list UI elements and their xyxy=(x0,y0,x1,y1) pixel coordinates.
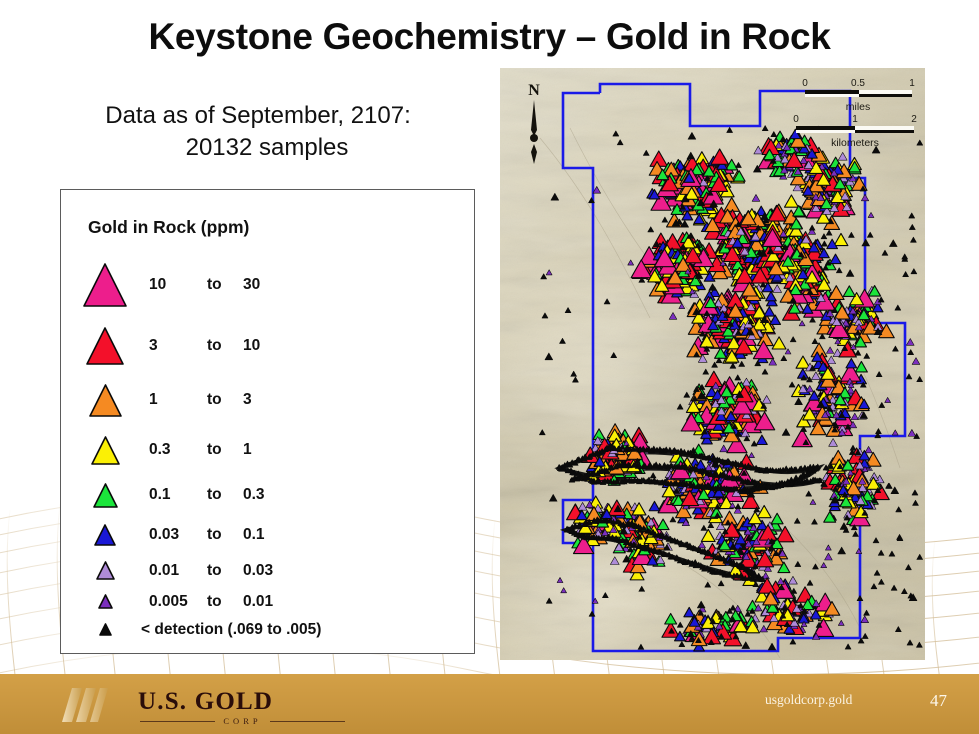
legend-row: 1to3 xyxy=(61,374,474,426)
legend-range-label: 10to30 xyxy=(149,276,260,294)
legend-range-label: 0.1to0.3 xyxy=(149,486,265,504)
legend-range-to-word: to xyxy=(207,391,243,409)
legend-row: 3to10 xyxy=(61,318,474,374)
legend-detection-label: < detection (.069 to .005) xyxy=(141,621,321,639)
legend-range-label: 1to3 xyxy=(149,391,252,409)
legend-range-hi: 10 xyxy=(243,337,260,355)
legend-range-hi: 0.3 xyxy=(243,486,265,504)
legend-range-label: 0.3to1 xyxy=(149,441,252,459)
legend-triangle-icon xyxy=(61,592,149,611)
subtitle-line-2: 20132 samples xyxy=(66,132,468,164)
legend-range-hi: 30 xyxy=(243,276,260,294)
legend-row: 0.03to0.1 xyxy=(61,516,474,554)
legend-range-hi: 0.1 xyxy=(243,526,265,544)
logo-wordmark: U.S. GOLD xyxy=(138,688,273,716)
legend-range-hi: 3 xyxy=(243,391,252,409)
legend-panel: Gold in Rock (ppm) 10to303to101to30.3to1… xyxy=(60,189,475,654)
legend-range-from: 0.1 xyxy=(149,486,207,504)
legend-range-label: 3to10 xyxy=(149,337,260,355)
legend-triangle-icon xyxy=(61,481,149,510)
legend-row: < detection (.069 to .005) xyxy=(61,616,474,643)
svg-text:kilometers: kilometers xyxy=(831,137,879,149)
legend-range-to-word: to xyxy=(207,526,243,544)
legend-range-to-word: to xyxy=(207,486,243,504)
legend-triangle-icon xyxy=(61,434,149,467)
legend-row: 0.01to0.03 xyxy=(61,554,474,587)
legend-range-to-word: to xyxy=(207,441,243,459)
legend-row: 0.005to0.01 xyxy=(61,587,474,616)
svg-text:miles: miles xyxy=(846,101,871,113)
logo-bars-icon xyxy=(52,682,132,728)
logo-rule-left xyxy=(140,721,215,722)
legend-triangle-icon xyxy=(61,621,149,638)
legend-range-from: 0.005 xyxy=(149,593,207,611)
svg-text:N: N xyxy=(528,82,540,99)
logo-corp-text: CORP xyxy=(215,716,269,726)
legend-range-label: < detection (.069 to .005) xyxy=(141,621,321,639)
legend-range-from: 0.3 xyxy=(149,441,207,459)
footer-bar: U.S. GOLD CORP usgoldcorp.gold 47 xyxy=(0,674,979,734)
subtitle-line-1: Data as of September, 2107: xyxy=(48,100,468,132)
map-image[interactable]: N 0 0.5 1 miles 0 1 2 xyxy=(500,68,925,660)
legend-range-to-word: to xyxy=(207,337,243,355)
svg-text:0: 0 xyxy=(793,114,799,125)
legend-rows: 10to303to101to30.3to10.1to0.30.03to0.10.… xyxy=(61,252,474,643)
page-title: Keystone Geochemistry – Gold in Rock xyxy=(0,16,979,58)
svg-text:1: 1 xyxy=(852,114,858,125)
company-logo: U.S. GOLD CORP xyxy=(52,682,342,728)
legend-range-from: 0.01 xyxy=(149,562,207,580)
svg-text:1: 1 xyxy=(909,78,915,89)
legend-range-from: 10 xyxy=(149,276,207,294)
legend-range-from: 3 xyxy=(149,337,207,355)
legend-range-hi: 0.03 xyxy=(243,562,273,580)
legend-range-hi: 0.01 xyxy=(243,593,273,611)
logo-subtitle: CORP xyxy=(140,716,345,726)
legend-triangle-icon xyxy=(61,522,149,548)
svg-text:2: 2 xyxy=(911,114,917,125)
legend-range-label: 0.03to0.1 xyxy=(149,526,265,544)
legend-triangle-icon xyxy=(61,325,149,367)
legend-triangle-icon xyxy=(61,261,149,309)
legend-row: 0.3to1 xyxy=(61,426,474,474)
legend-range-to-word: to xyxy=(207,593,243,611)
logo-rule-right xyxy=(270,721,345,722)
svg-text:0.5: 0.5 xyxy=(851,78,865,89)
legend-row: 10to30 xyxy=(61,252,474,318)
slide: Keystone Geochemistry – Gold in Rock Dat… xyxy=(0,0,979,734)
legend-range-to-word: to xyxy=(207,276,243,294)
legend-range-from: 1 xyxy=(149,391,207,409)
legend-range-label: 0.005to0.01 xyxy=(149,593,273,611)
legend-triangle-icon xyxy=(61,559,149,582)
legend-range-from: 0.03 xyxy=(149,526,207,544)
svg-text:0: 0 xyxy=(802,78,808,89)
legend-range-hi: 1 xyxy=(243,441,252,459)
subtitle-block: Data as of September, 2107: 20132 sample… xyxy=(48,100,468,163)
legend-range-label: 0.01to0.03 xyxy=(149,562,273,580)
legend-triangle-icon xyxy=(61,382,149,419)
map-svg: N 0 0.5 1 miles 0 1 2 xyxy=(500,68,925,660)
legend-range-to-word: to xyxy=(207,562,243,580)
footer-url[interactable]: usgoldcorp.gold xyxy=(765,692,852,708)
legend-title: Gold in Rock (ppm) xyxy=(88,217,249,238)
legend-row: 0.1to0.3 xyxy=(61,474,474,516)
page-number: 47 xyxy=(930,691,947,711)
